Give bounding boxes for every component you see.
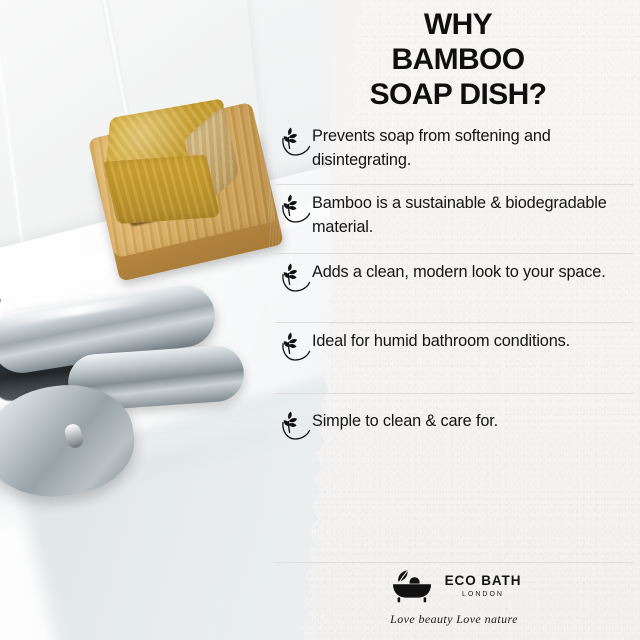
benefit-item-1: Prevents soap from softening and disinte…: [276, 118, 634, 185]
sprout-icon: [280, 124, 311, 158]
benefit-item-4: Ideal for humid bathroom conditions.: [276, 323, 634, 394]
benefit-item-5: Simple to clean & care for.: [276, 394, 634, 456]
benefit-text: Bamboo is a sustainable & biodegradable …: [312, 185, 630, 239]
logo-lockup: ECO BATH LONDON: [387, 566, 522, 606]
content-column: WHY BAMBOO SOAP DISH? Prevents soap from…: [268, 0, 640, 640]
benefit-text: Ideal for humid bathroom conditions.: [312, 323, 630, 354]
chrome-faucet: [0, 290, 244, 520]
bathtub-leaf-icon: [387, 566, 437, 606]
logo-name: ECO BATH: [445, 574, 522, 588]
benefit-item-3: Adds a clean, modern look to your space.: [276, 254, 634, 323]
benefit-text: Adds a clean, modern look to your space.: [312, 254, 630, 285]
logo-separator: [276, 562, 634, 563]
logo-wordmark: ECO BATH LONDON: [445, 574, 522, 598]
logo-tagline: Love beauty Love nature: [390, 612, 518, 627]
sprout-icon: [280, 191, 311, 225]
page-title: WHY BAMBOO SOAP DISH?: [298, 8, 618, 112]
title-line-3: SOAP DISH?: [298, 78, 618, 113]
benefit-text: Prevents soap from softening and disinte…: [312, 118, 630, 172]
infographic-canvas: WHY BAMBOO SOAP DISH? Prevents soap from…: [0, 0, 640, 640]
title-line-2: BAMBOO: [298, 43, 618, 78]
benefits-list: Prevents soap from softening and disinte…: [276, 118, 634, 456]
benefit-text: Simple to clean & care for.: [312, 394, 630, 434]
sprout-icon: [280, 329, 311, 363]
benefit-item-2: Bamboo is a sustainable & biodegradable …: [276, 185, 634, 254]
brand-logo: ECO BATH LONDON Love beauty Love nature: [268, 566, 640, 627]
logo-subtitle: LONDON: [462, 591, 504, 598]
soap-front-face: [103, 155, 220, 225]
title-line-1: WHY: [298, 8, 618, 43]
sprout-icon: [280, 408, 311, 442]
faucet-red-marker: [0, 298, 1, 303]
sprout-icon: [280, 260, 311, 294]
